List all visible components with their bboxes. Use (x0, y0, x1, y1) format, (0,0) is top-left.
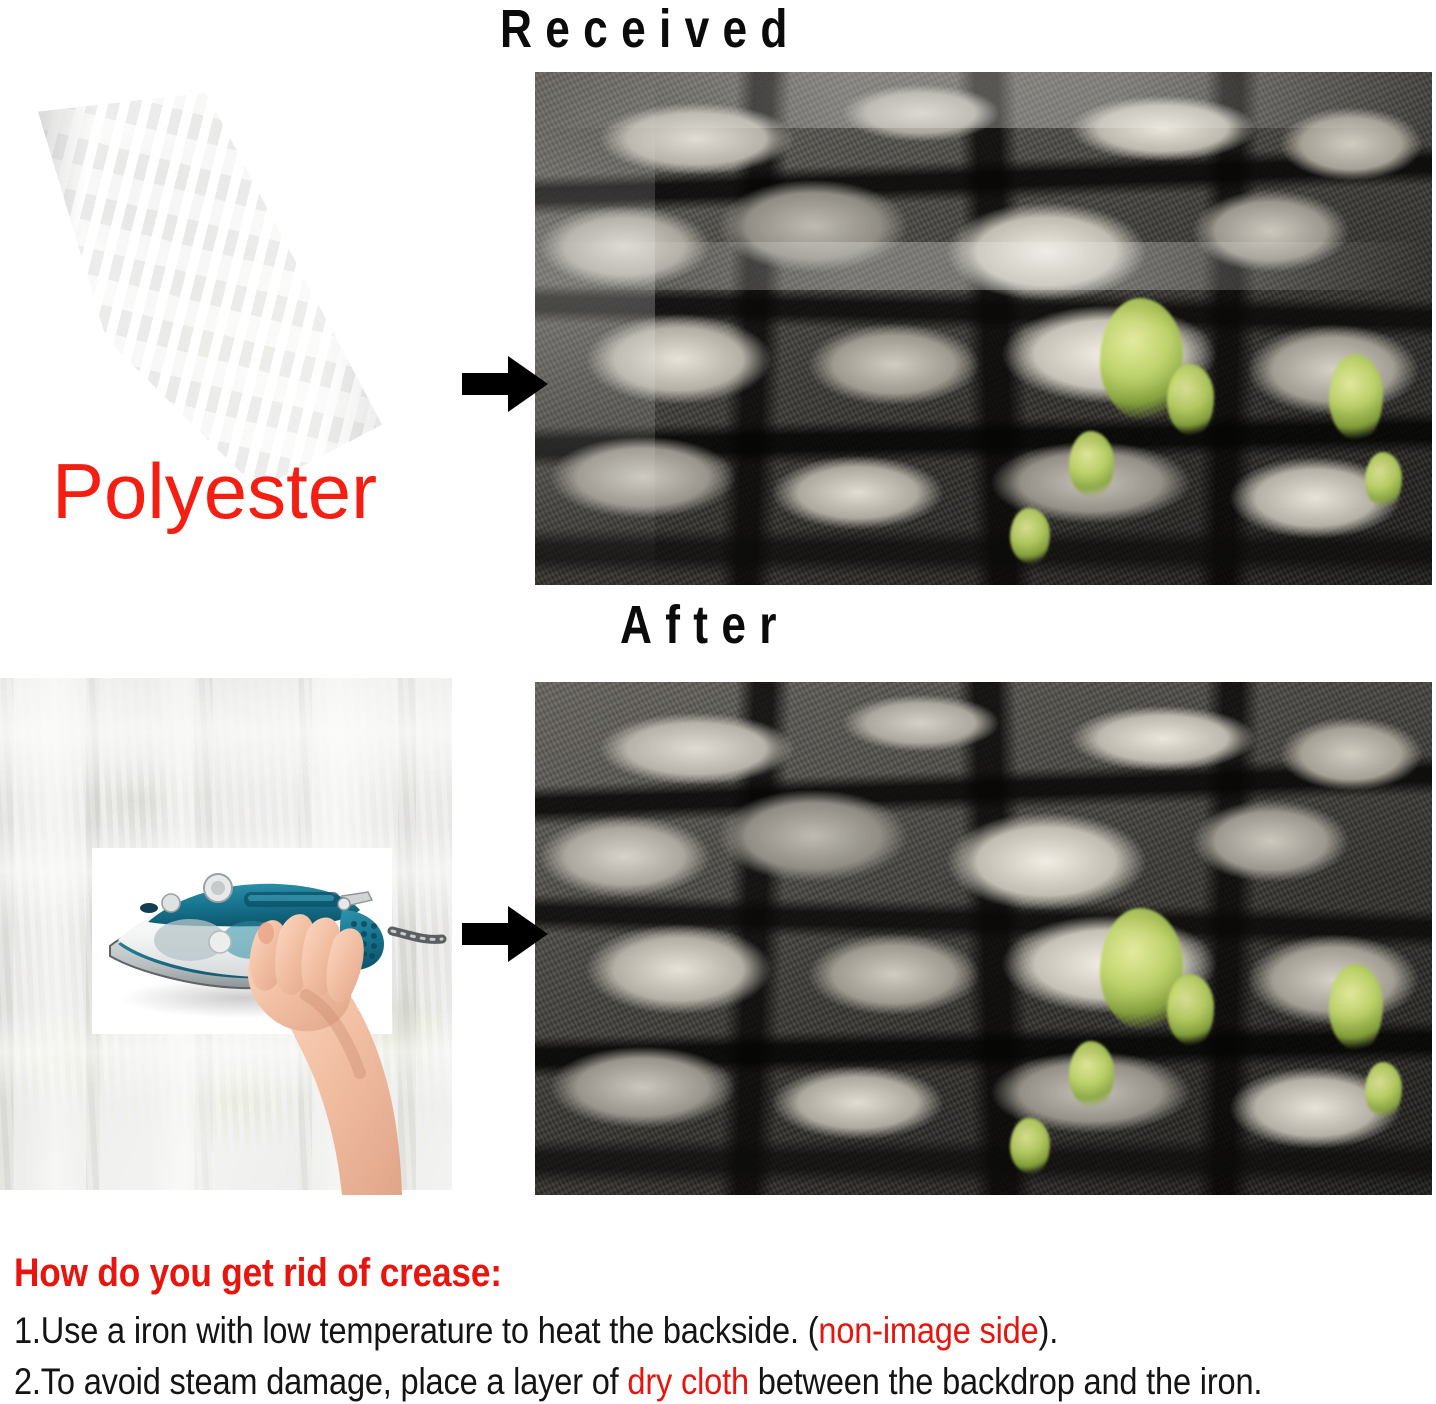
care-instructions-title: How do you get rid of crease: (14, 1252, 1257, 1294)
rock-wall-texture (535, 682, 1432, 1195)
moss-patch (1069, 1041, 1114, 1108)
right-arrow-icon (462, 902, 548, 966)
care-step-2-highlight: dry cloth (627, 1361, 748, 1402)
moss-patch (1365, 1062, 1403, 1118)
care-step-1-text-b: ). (1039, 1310, 1059, 1351)
iron-inset-photo (92, 848, 392, 1034)
fabric-fold-shadow (18, 78, 418, 498)
moss-patch (1069, 431, 1114, 498)
received-photo (535, 72, 1432, 585)
care-instruction-step-2: 2.To avoid steam damage, place a layer o… (14, 1359, 1257, 1404)
moss-patch (1329, 964, 1383, 1051)
after-heading: After (620, 598, 790, 652)
right-arrow-icon (462, 352, 548, 416)
polyester-label: Polyester (52, 452, 377, 530)
care-step-2-text-a: 2.To avoid steam damage, place a layer o… (14, 1361, 627, 1402)
rock-wall-texture (535, 72, 1432, 585)
care-instruction-step-1: 1.Use a iron with low temperature to hea… (14, 1308, 1257, 1353)
care-instructions: How do you get rid of crease: 1.Use a ir… (14, 1252, 1426, 1404)
moss-patch (1010, 508, 1049, 564)
moss-patch (1329, 354, 1383, 441)
after-photo (535, 682, 1432, 1195)
received-heading: Received (500, 2, 801, 56)
care-step-2-text-b: between the backdrop and the iron. (749, 1361, 1262, 1402)
moss-patch (1365, 452, 1403, 508)
moss-patch (1167, 364, 1214, 436)
care-step-1-highlight: non-image side (818, 1310, 1038, 1351)
steam-iron-icon (92, 848, 392, 1034)
care-step-1-text-a: 1.Use a iron with low temperature to hea… (14, 1310, 818, 1351)
moss-patch (1010, 1118, 1049, 1174)
folded-fabric-swatch (18, 78, 418, 498)
moss-patch (1167, 974, 1214, 1046)
